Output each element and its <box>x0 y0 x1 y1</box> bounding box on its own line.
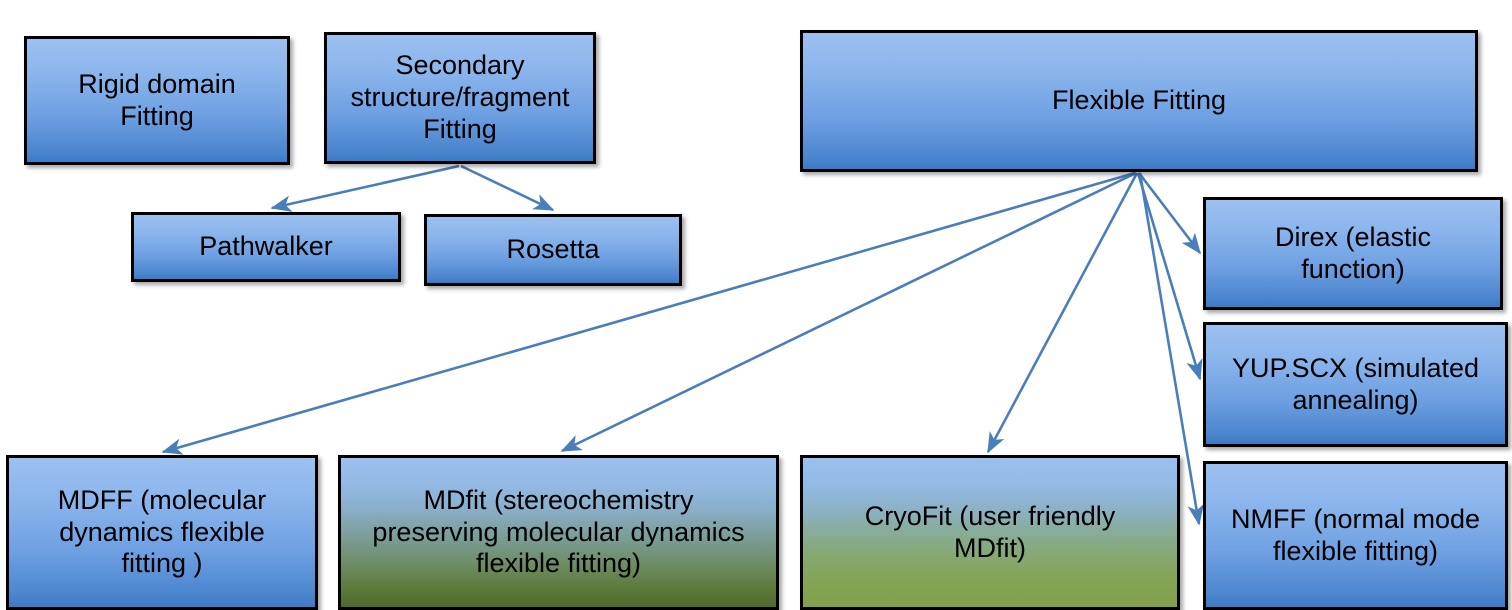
node-mdff[interactable]: MDFF (molecular dynamics flexible fittin… <box>6 455 318 610</box>
diagram-canvas: Rigid domain Fitting Secondary structure… <box>0 0 1512 610</box>
node-label: Rosetta <box>506 234 599 266</box>
node-direx[interactable]: Direx (elastic function) <box>1203 197 1503 310</box>
edge-secondary-to-pathwalker <box>272 166 459 208</box>
edge-flexible-to-yupscx <box>1138 173 1200 379</box>
node-pathwalker[interactable]: Pathwalker <box>131 212 401 282</box>
node-label: Rigid domain Fitting <box>78 69 236 133</box>
edge-secondary-to-rosetta <box>461 166 553 210</box>
node-label: MDFF (molecular dynamics flexible fittin… <box>58 485 267 581</box>
node-rosetta[interactable]: Rosetta <box>424 214 682 286</box>
node-yup-scx[interactable]: YUP.SCX (simulated annealing) <box>1203 322 1508 447</box>
edge-flexible-to-direx <box>1139 173 1200 253</box>
node-label: NMFF (normal mode flexible fitting) <box>1231 504 1480 568</box>
node-label: Pathwalker <box>199 231 333 263</box>
node-flexible-fitting[interactable]: Flexible Fitting <box>800 30 1478 172</box>
node-label: Flexible Fitting <box>1052 85 1226 117</box>
node-label: YUP.SCX (simulated annealing) <box>1232 353 1479 417</box>
edge-flexible-to-cryofit <box>988 173 1137 452</box>
node-secondary-structure-fragment-fitting[interactable]: Secondary structure/fragment Fitting <box>324 32 596 164</box>
node-nmff[interactable]: NMFF (normal mode flexible fitting) <box>1203 461 1508 610</box>
node-label: MDfit (stereochemistry preserving molecu… <box>372 485 744 581</box>
node-rigid-domain-fitting[interactable]: Rigid domain Fitting <box>24 36 290 165</box>
node-label: CryoFit (user friendly MDfit) <box>865 501 1116 565</box>
node-label: Secondary structure/fragment Fitting <box>350 50 569 146</box>
node-mdfit[interactable]: MDfit (stereochemistry preserving molecu… <box>338 455 779 610</box>
node-cryofit[interactable]: CryoFit (user friendly MDfit) <box>800 455 1180 610</box>
node-label: Direx (elastic function) <box>1275 222 1431 286</box>
